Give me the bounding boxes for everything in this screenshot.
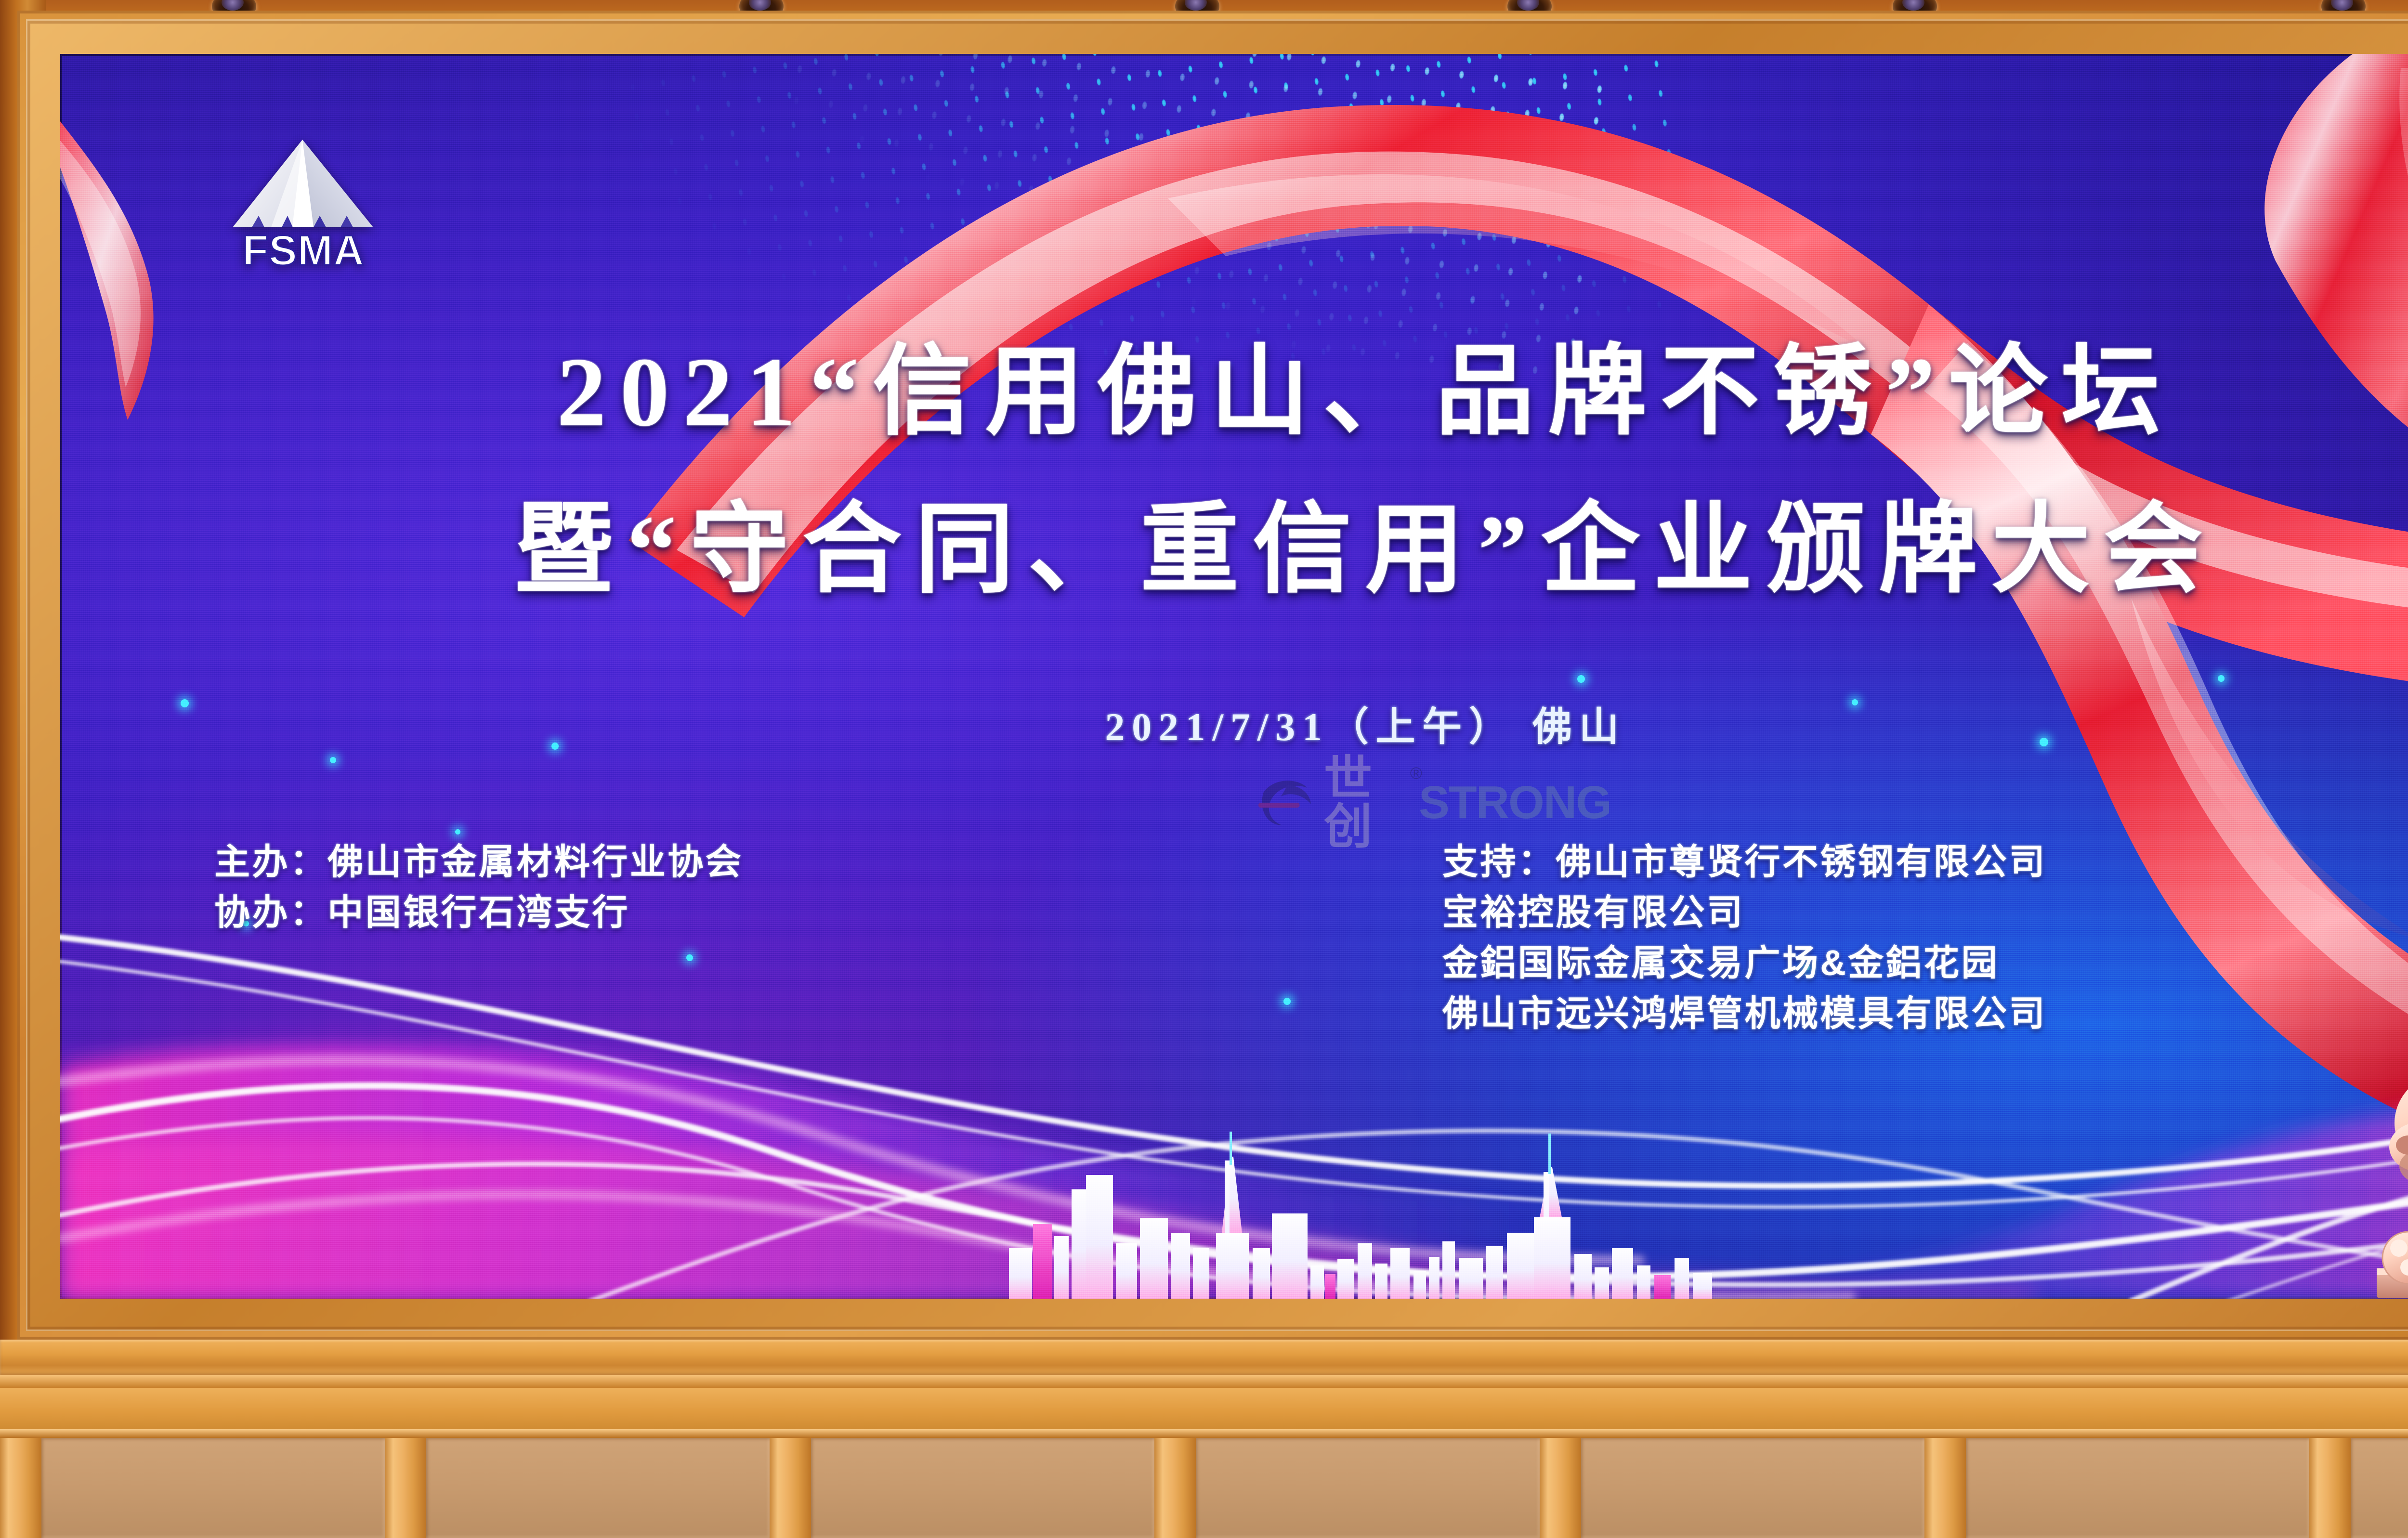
- watermark-english-label: STRONG: [1419, 777, 1611, 828]
- wainscot-panel: [811, 1438, 1154, 1538]
- event-datetime-location: 2021/7/31（上午） 佛山: [60, 694, 2408, 752]
- wainscot-rail-bead: [0, 1375, 2408, 1388]
- watermark-english-text: ® STRONG: [1419, 780, 1611, 826]
- wainscot-panel: [426, 1438, 770, 1538]
- wooden-wainscot-panels: [0, 1340, 2408, 1538]
- wainscot-panel: [2351, 1438, 2408, 1538]
- fsma-triangle-right-icon: [302, 140, 373, 227]
- led-backdrop-screen: FSMA 2021“信用佛山、品牌不锈”论坛 暨“守合同、重信用”企业颁牌大会 …: [60, 54, 2408, 1299]
- wainscot-rail-top: [0, 1340, 2408, 1375]
- photo-watermark: 世创 ® STRONG: [1255, 767, 1611, 839]
- wainscot-stile: [2309, 1438, 2351, 1538]
- wainscot-panel: [1966, 1438, 2309, 1538]
- fsma-wordmark: FSMA: [242, 226, 364, 271]
- wainscot-stile: [770, 1438, 811, 1538]
- organizer-line: 主办：佛山市金属材料行业协会: [214, 836, 743, 887]
- wainscot-rail-mid: [0, 1388, 2408, 1429]
- fsma-logo: FSMA: [214, 131, 393, 271]
- wainscot-stile: [1154, 1438, 1196, 1538]
- supporter-line: 宝裕控股有限公司: [1442, 887, 2047, 938]
- wainscot-panel: [1196, 1438, 1539, 1538]
- registered-mark-icon: ®: [1410, 765, 1421, 782]
- supporter-line: 佛山市远兴鸿焊管机械模具有限公司: [1442, 988, 2047, 1039]
- wainscot-panel: [1581, 1438, 1924, 1538]
- wainscot-rail-lower: [0, 1429, 2408, 1438]
- wainscot-stile: [385, 1438, 426, 1538]
- organizer-line: 协办：中国银行石湾支行: [214, 887, 743, 938]
- wainscot-panel: [41, 1438, 385, 1538]
- led-pixel-grid-texture: [60, 54, 2408, 1299]
- supporters-block: 支持：佛山市尊贤行不锈钢有限公司 宝裕控股有限公司 金鋁国际金属交易广场&金鋁花…: [1442, 836, 2047, 1039]
- supporter-line: 金鋁国际金属交易广场&金鋁花园: [1442, 938, 2047, 988]
- organizers-block: 主办：佛山市金属材料行业协会 协办：中国银行石湾支行: [214, 836, 743, 938]
- stone-guardian-lion-statue: [2367, 1007, 2408, 1299]
- watermark-chinese-text: 世创: [1324, 755, 1412, 851]
- wainscot-stile: [1924, 1438, 1966, 1538]
- swoosh-logo-icon: [1255, 771, 1317, 834]
- wainscot-stile: [1540, 1438, 1581, 1538]
- headline-line-2: 暨“守合同、重信用”企业颁牌大会: [60, 501, 2408, 600]
- wainscot-stile: [0, 1438, 41, 1538]
- wainscot-panel-row: [0, 1438, 2408, 1538]
- headline-line-1: 2021“信用佛山、品牌不锈”论坛: [60, 343, 2408, 442]
- conference-stage-scene: FSMA 2021“信用佛山、品牌不锈”论坛 暨“守合同、重信用”企业颁牌大会 …: [0, 0, 2408, 1538]
- supporter-line: 支持：佛山市尊贤行不锈钢有限公司: [1442, 836, 2047, 887]
